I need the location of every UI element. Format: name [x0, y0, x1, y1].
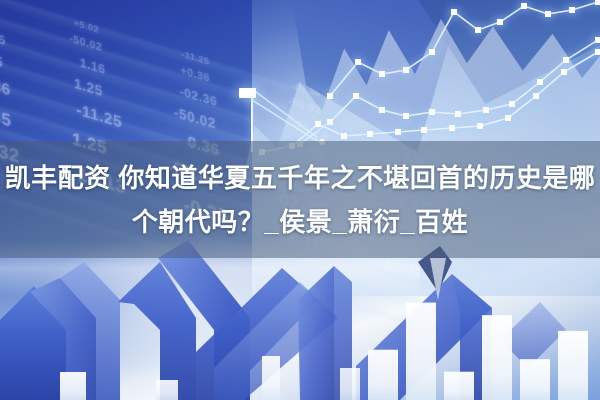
chart-bar — [444, 372, 474, 400]
page-title-line-2: 个朝代吗？_侯景_萧衍_百姓 — [132, 200, 468, 244]
chart-bar — [520, 359, 550, 400]
chart-bar — [482, 315, 512, 400]
page-title-line-1: 凯丰配资 你知道华夏五千年之不堪回首的历史是哪 — [5, 156, 596, 200]
title-overlay-band: 凯丰配资 你知道华夏五千年之不堪回首的历史是哪 个朝代吗？_侯景_萧衍_百姓 — [0, 141, 600, 258]
chart-bar — [406, 303, 436, 400]
chart-bar — [368, 350, 398, 400]
banner-image: -0.35+5.02-11.25-02.3621.031.25-50.02+0.… — [0, 0, 600, 400]
chart-bar — [558, 331, 588, 400]
